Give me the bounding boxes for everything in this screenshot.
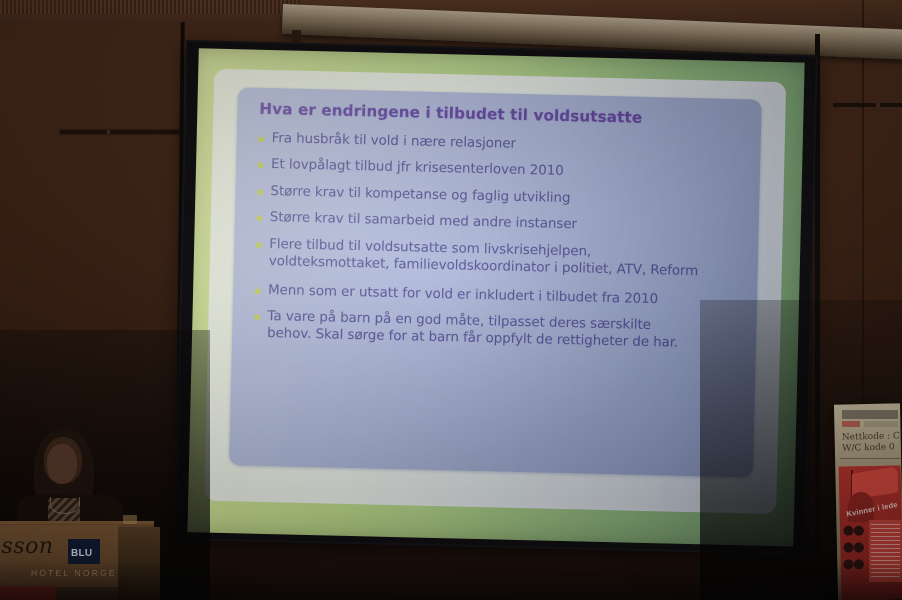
slide-title: Hva er endringene i tilbudet til voldsut… bbox=[259, 100, 745, 129]
list-item: Større krav til samarbeid med andre inst… bbox=[247, 209, 749, 238]
bullet-dot-icon bbox=[254, 315, 259, 320]
wall-groove-right bbox=[833, 103, 902, 107]
podium-brand-text: isson bbox=[0, 534, 54, 559]
speaker-necklace bbox=[50, 497, 80, 514]
list-item: Flere tilbud til voldsutsatte som livskr… bbox=[246, 235, 749, 282]
wall-groove-left-gap bbox=[107, 130, 110, 134]
bullet-text: Ta vare på barn på en god måte, tilpasse… bbox=[267, 308, 698, 353]
bullet-text: Et lovpålagt tilbud jfr krisesenterloven… bbox=[271, 156, 564, 180]
podium-side bbox=[118, 527, 160, 600]
bullet-text: Større krav til kompetanse og faglig utv… bbox=[270, 183, 570, 207]
flipchart-handwriting-line-2: W/C kode 0 bbox=[842, 442, 902, 455]
flipchart-header-label bbox=[864, 421, 898, 427]
foreground-red-object bbox=[0, 586, 56, 600]
presentation-photo-scene: Hva er endringene i tilbudet til voldsut… bbox=[0, 0, 902, 600]
flipchart-rule bbox=[840, 458, 902, 459]
flipchart-handwriting: Nettkode : C W/C kode 0 bbox=[842, 431, 902, 455]
bullet-dot-icon bbox=[255, 288, 260, 293]
speaker-face bbox=[47, 444, 77, 484]
bullet-dot-icon bbox=[259, 137, 264, 142]
poster-portrait-icons bbox=[843, 524, 865, 580]
slide-bullet-list: Fra husbråk til vold i nære relasjoner E… bbox=[244, 130, 751, 366]
ceiling-grille bbox=[0, 0, 300, 14]
poster-text-lines bbox=[871, 524, 900, 578]
list-item: Ta vare på barn på en god måte, tilpasse… bbox=[244, 307, 747, 354]
list-item: Fra husbråk til vold i nære relasjoner bbox=[248, 130, 750, 159]
bullet-dot-icon bbox=[256, 242, 261, 247]
list-item: Menn som er utsatt for vold er inkludert… bbox=[245, 281, 747, 310]
bullet-text: Større krav til samarbeid med andre inst… bbox=[270, 209, 578, 234]
speaker-name-badge bbox=[123, 515, 137, 524]
wall-groove-left bbox=[60, 130, 185, 134]
bullet-dot-icon bbox=[257, 190, 262, 195]
podium-sub-brand-text: BLU bbox=[71, 548, 92, 559]
bullet-dot-icon bbox=[258, 163, 263, 168]
screen-housing-bracket bbox=[292, 30, 301, 42]
podium-tagline-text: HOTEL NORGE bbox=[31, 568, 117, 578]
bullet-text: Menn som er utsatt for vold er inkludert… bbox=[268, 282, 658, 309]
slide-content-box: Hva er endringene i tilbudet til voldsut… bbox=[229, 87, 762, 477]
list-item: Et lovpålagt tilbud jfr krisesenterloven… bbox=[248, 156, 750, 185]
bullet-text: Fra husbråk til vold i nære relasjoner bbox=[271, 130, 516, 153]
flipchart-logo-mark bbox=[842, 421, 860, 427]
bullet-dot-icon bbox=[257, 216, 262, 221]
slide-paper: Hva er endringene i tilbudet til voldsut… bbox=[204, 69, 786, 514]
flipchart-header-bar bbox=[842, 410, 898, 419]
wall-groove-right-gap bbox=[876, 103, 880, 107]
list-item: Større krav til kompetanse og faglig utv… bbox=[247, 182, 749, 211]
bullet-text: Flere tilbud til voldsutsatte som livskr… bbox=[269, 236, 700, 281]
